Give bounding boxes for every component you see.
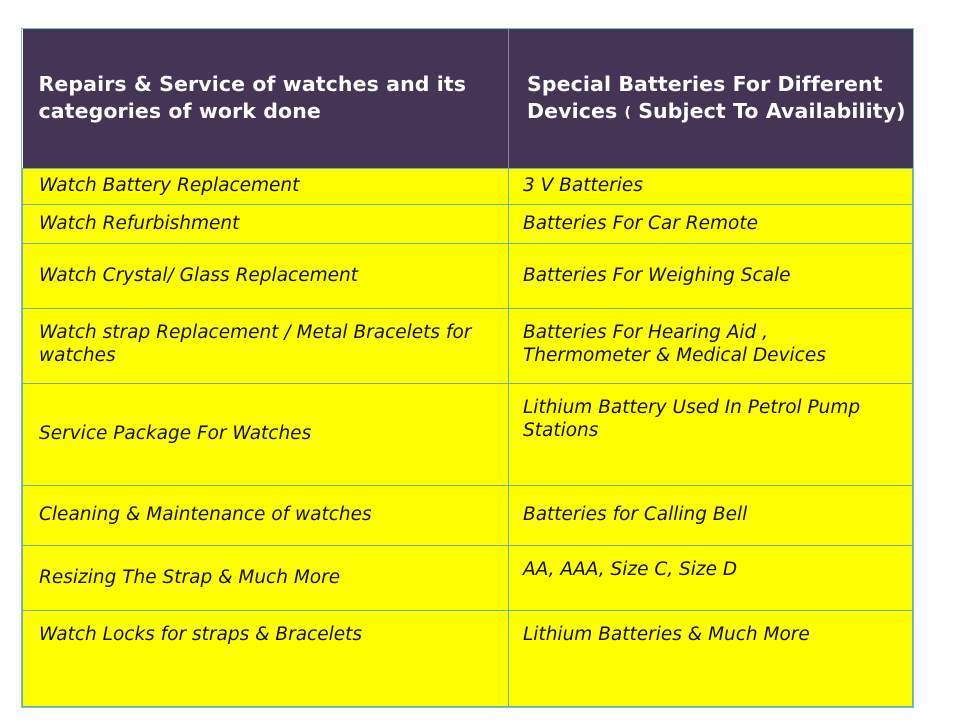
column-header-batteries-devices-word: Devices [527, 99, 617, 123]
column-header-batteries: Special Batteries For Different Devices … [509, 29, 913, 168]
cell-battery-2: Batteries For Weighing Scale [509, 243, 913, 308]
column-header-batteries-line-1: Special Batteries For Different [527, 71, 899, 98]
services-and-batteries-table: Repairs & Service of watches and its cat… [22, 29, 913, 707]
cell-battery-4: Lithium Battery Used In Petrol Pump Stat… [509, 383, 913, 485]
table-row: Watch strap Replacement / Metal Bracelet… [23, 308, 913, 383]
cell-service-7: Watch Locks for straps & Bracelets [23, 610, 509, 706]
table-header-row: Repairs & Service of watches and its cat… [23, 29, 913, 168]
cell-battery-1: Batteries For Car Remote [509, 204, 913, 243]
table-row: Service Package For Watches Lithium Batt… [23, 383, 913, 485]
table-body: Watch Battery Replacement 3 V Batteries … [23, 168, 913, 706]
cell-service-6: Resizing The Strap & Much More [23, 545, 509, 610]
table-row: Watch Battery Replacement 3 V Batteries [23, 168, 913, 204]
cell-battery-3: Batteries For Hearing Aid , Thermometer … [509, 308, 913, 383]
table-header: Repairs & Service of watches and its cat… [23, 29, 913, 168]
column-header-services-line-1: Repairs & Service of watches and its [39, 71, 495, 98]
cell-battery-0: 3 V Batteries [509, 168, 913, 204]
table-row: Cleaning & Maintenance of watches Batter… [23, 485, 913, 545]
column-header-services-line-2: categories of work done [39, 98, 495, 125]
column-header-batteries-subject-phrase: Subject To Availability) [638, 99, 905, 123]
cell-service-3: Watch strap Replacement / Metal Bracelet… [23, 308, 509, 383]
cell-service-4: Service Package For Watches [23, 383, 509, 485]
table-row: Watch Locks for straps & Bracelets Lithi… [23, 610, 913, 706]
table-row: Resizing The Strap & Much More AA, AAA, … [23, 545, 913, 610]
cell-battery-7: Lithium Batteries & Much More [509, 610, 913, 706]
column-header-services: Repairs & Service of watches and its cat… [23, 29, 509, 168]
cell-service-1: Watch Refurbishment [23, 204, 509, 243]
cell-service-5: Cleaning & Maintenance of watches [23, 485, 509, 545]
cell-service-0: Watch Battery Replacement [23, 168, 509, 204]
column-header-batteries-line-2: Devices ( Subject To Availability) [527, 98, 899, 125]
slide-canvas: Repairs & Service of watches and its cat… [0, 0, 960, 720]
table-row: Watch Crystal/ Glass Replacement Batteri… [23, 243, 913, 308]
cell-battery-6: AA, AAA, Size C, Size D [509, 545, 913, 610]
table-row: Watch Refurbishment Batteries For Car Re… [23, 204, 913, 243]
cell-service-2: Watch Crystal/ Glass Replacement [23, 243, 509, 308]
column-header-batteries-open-paren: ( [625, 105, 631, 121]
cell-battery-5: Batteries for Calling Bell [509, 485, 913, 545]
